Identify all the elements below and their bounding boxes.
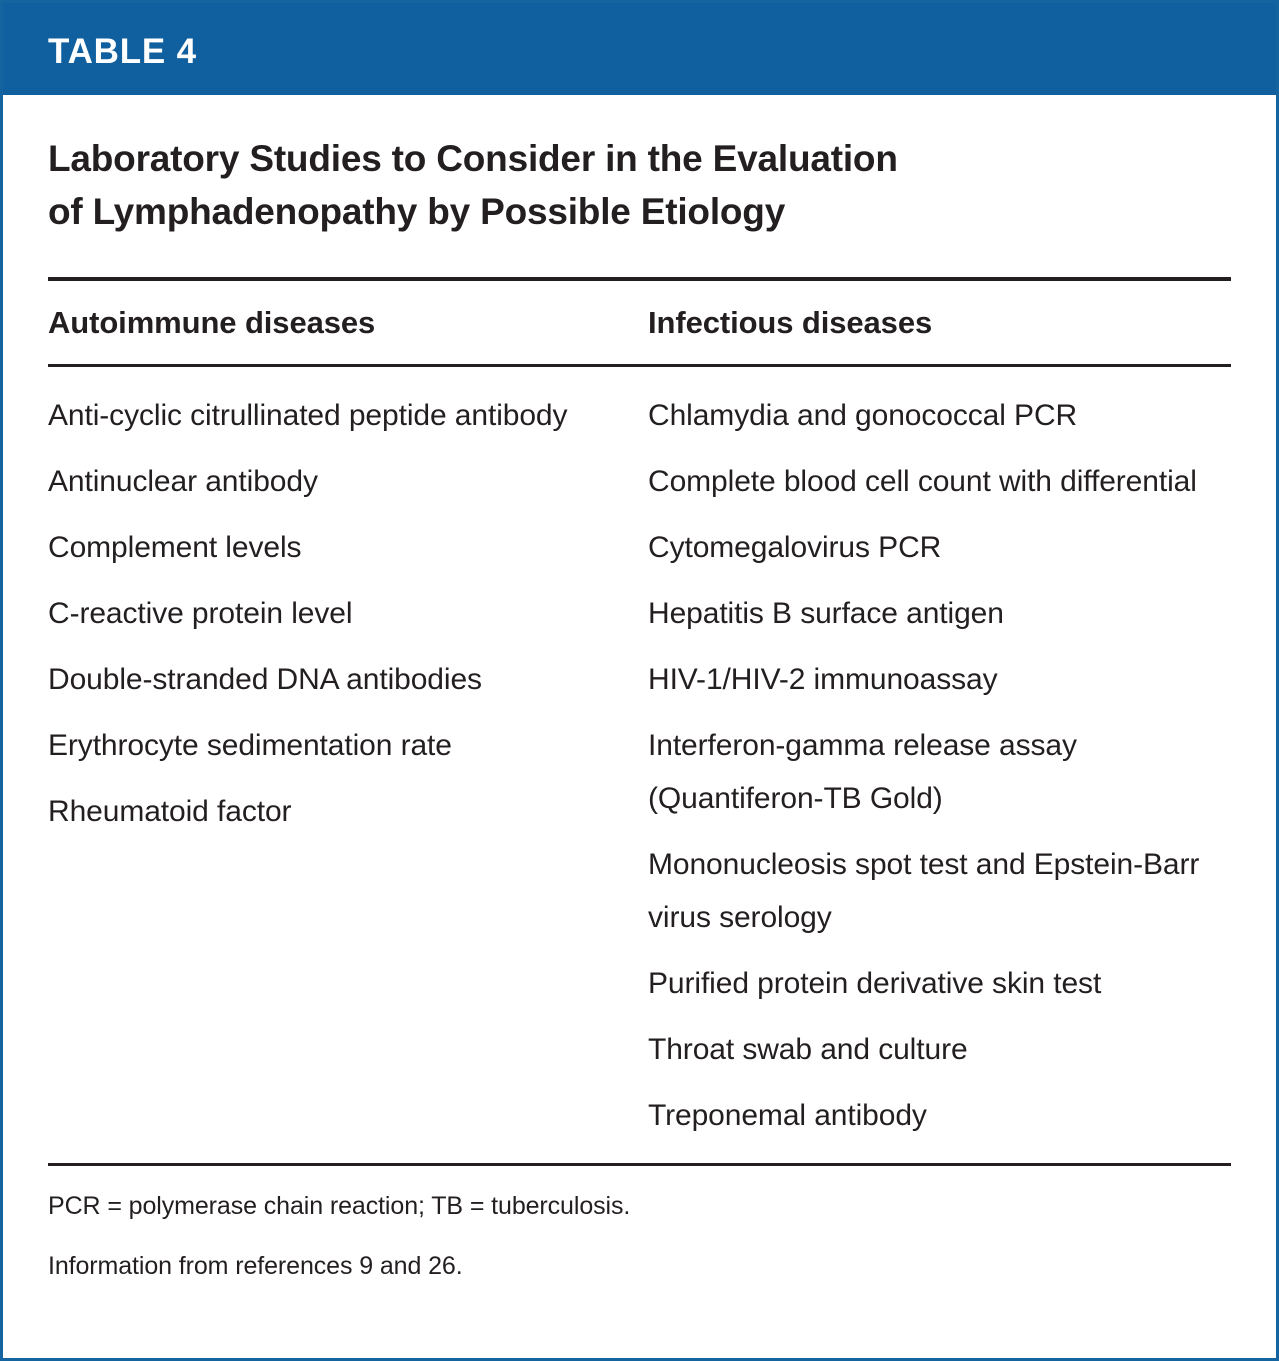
list-item: Cytomegalovirus PCR [648, 521, 1231, 574]
column-header-autoimmune-diseases: Autoimmune diseases [48, 303, 648, 343]
table-title: Laboratory Studies to Consider in the Ev… [48, 95, 1108, 238]
table-footnotes: PCR = polymerase chain reaction; TB = tu… [48, 1166, 1231, 1283]
column-infectious-diseases-list: Chlamydia and gonococcal PCR Complete bl… [648, 389, 1231, 1142]
table-columns: Anti-cyclic citrullinated peptide antibo… [48, 367, 1231, 1142]
list-item: Purified protein derivative skin test [648, 957, 1231, 1010]
column-header-row: Autoimmune diseases Infectious diseases [48, 281, 1231, 364]
column-autoimmune-diseases-list: Anti-cyclic citrullinated peptide antibo… [48, 389, 648, 1142]
list-item: Hepatitis B surface antigen [648, 587, 1231, 640]
list-item: Complete blood cell count with different… [648, 455, 1231, 508]
column-header-infectious-diseases: Infectious diseases [648, 303, 1231, 343]
list-item: Rheumatoid factor [48, 785, 613, 838]
table-header-bar: TABLE 4 [3, 3, 1276, 95]
list-item: HIV-1/HIV-2 immunoassay [648, 653, 1231, 706]
table-title-line-2: of Lymphadenopathy by Possible Etiology [48, 185, 1108, 238]
list-item: Anti-cyclic citrullinated peptide antibo… [48, 389, 613, 442]
table-body: Laboratory Studies to Consider in the Ev… [3, 95, 1276, 1358]
list-item: C-reactive protein level [48, 587, 613, 640]
table-number-label: TABLE 4 [48, 29, 197, 74]
list-item: Interferon-gamma release assay (Quantife… [648, 719, 1231, 825]
list-item: Complement levels [48, 521, 613, 574]
list-item: Treponemal antibody [648, 1089, 1231, 1142]
list-item: Chlamydia and gonococcal PCR [648, 389, 1231, 442]
footnote-abbreviations: PCR = polymerase chain reaction; TB = tu… [48, 1189, 1231, 1223]
footnote-source: Information from references 9 and 26. [48, 1249, 1231, 1283]
list-item: Antinuclear antibody [48, 455, 613, 508]
list-item: Throat swab and culture [648, 1023, 1231, 1076]
list-item: Erythrocyte sedimentation rate [48, 719, 613, 772]
table-title-line-1: Laboratory Studies to Consider in the Ev… [48, 132, 1108, 185]
list-item: Double-stranded DNA antibodies [48, 653, 613, 706]
table-card: TABLE 4 Laboratory Studies to Consider i… [0, 0, 1279, 1361]
list-item: Mononucleosis spot test and Epstein-Barr… [648, 838, 1231, 944]
